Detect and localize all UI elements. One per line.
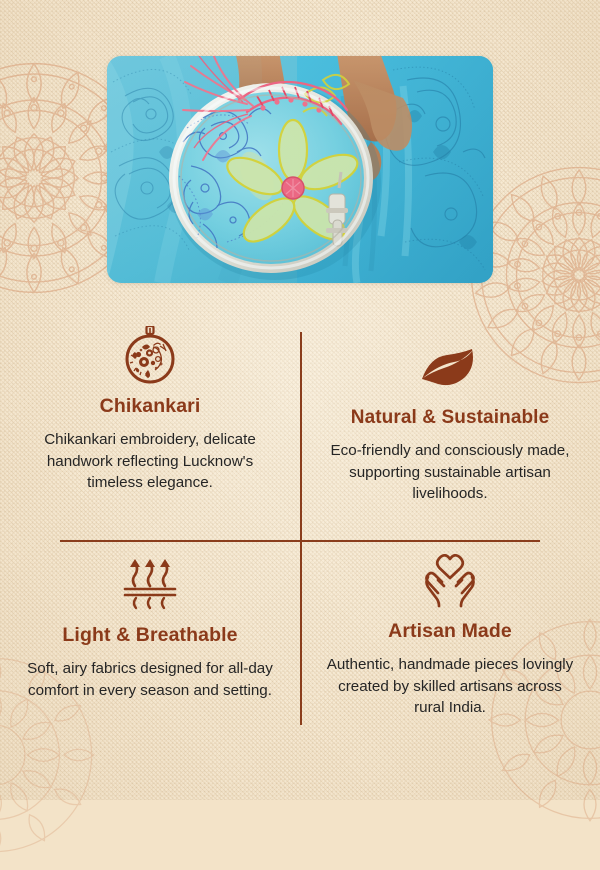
- feature-description: Eco-friendly and consciously made, suppo…: [326, 440, 574, 505]
- hands-holding-heart-icon: [420, 549, 480, 611]
- feature-card-chikankari: Chikankari Chikankari embroidery, delica…: [0, 318, 300, 533]
- feature-title: Artisan Made: [388, 620, 512, 643]
- feature-title: Light & Breathable: [62, 624, 237, 647]
- feature-title: Natural & Sustainable: [351, 407, 549, 429]
- embroidery-hoop-icon: [122, 324, 178, 386]
- airflow-breathable-icon: [121, 553, 179, 615]
- feature-description: Soft, airy fabrics designed for all-day …: [24, 658, 276, 701]
- hero-image: [107, 56, 493, 283]
- feature-grid: Chikankari Chikankari embroidery, delica…: [0, 318, 600, 748]
- leaf-icon: [420, 336, 480, 398]
- feature-card-natural-sustainable: Natural & Sustainable Eco-friendly and c…: [300, 318, 600, 533]
- feature-card-artisan-made: Artisan Made Authentic, handmade pieces …: [300, 541, 600, 756]
- feature-card-light-breathable: Light & Breathable Soft, airy fabrics de…: [0, 541, 300, 756]
- embroidery-photo: [107, 56, 493, 283]
- feature-description: Chikankari embroidery, delicate handwork…: [24, 429, 276, 494]
- feature-title: Chikankari: [100, 395, 201, 418]
- feature-description: Authentic, handmade pieces lovingly crea…: [326, 654, 574, 719]
